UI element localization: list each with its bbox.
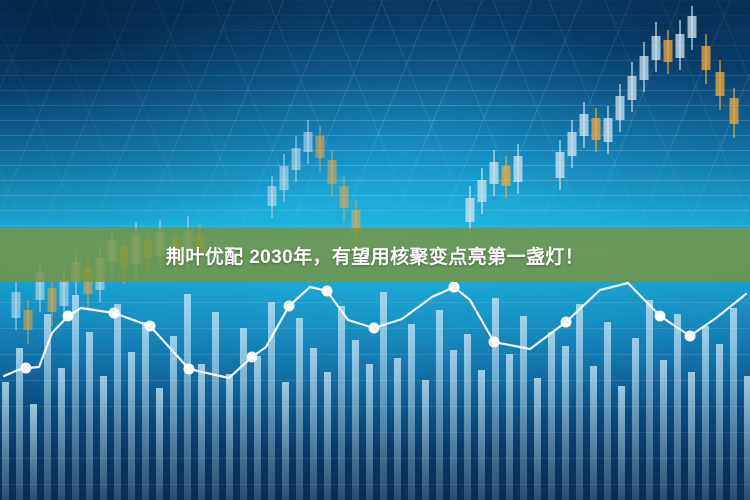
banner-image: 荆叶优配 2030年，有望用核聚变点亮第一盏灯！ <box>0 0 750 500</box>
headline-text: 荆叶优配 2030年，有望用核聚变点亮第一盏灯！ <box>166 242 584 269</box>
headline-band: 荆叶优配 2030年，有望用核聚变点亮第一盏灯！ <box>0 228 750 282</box>
